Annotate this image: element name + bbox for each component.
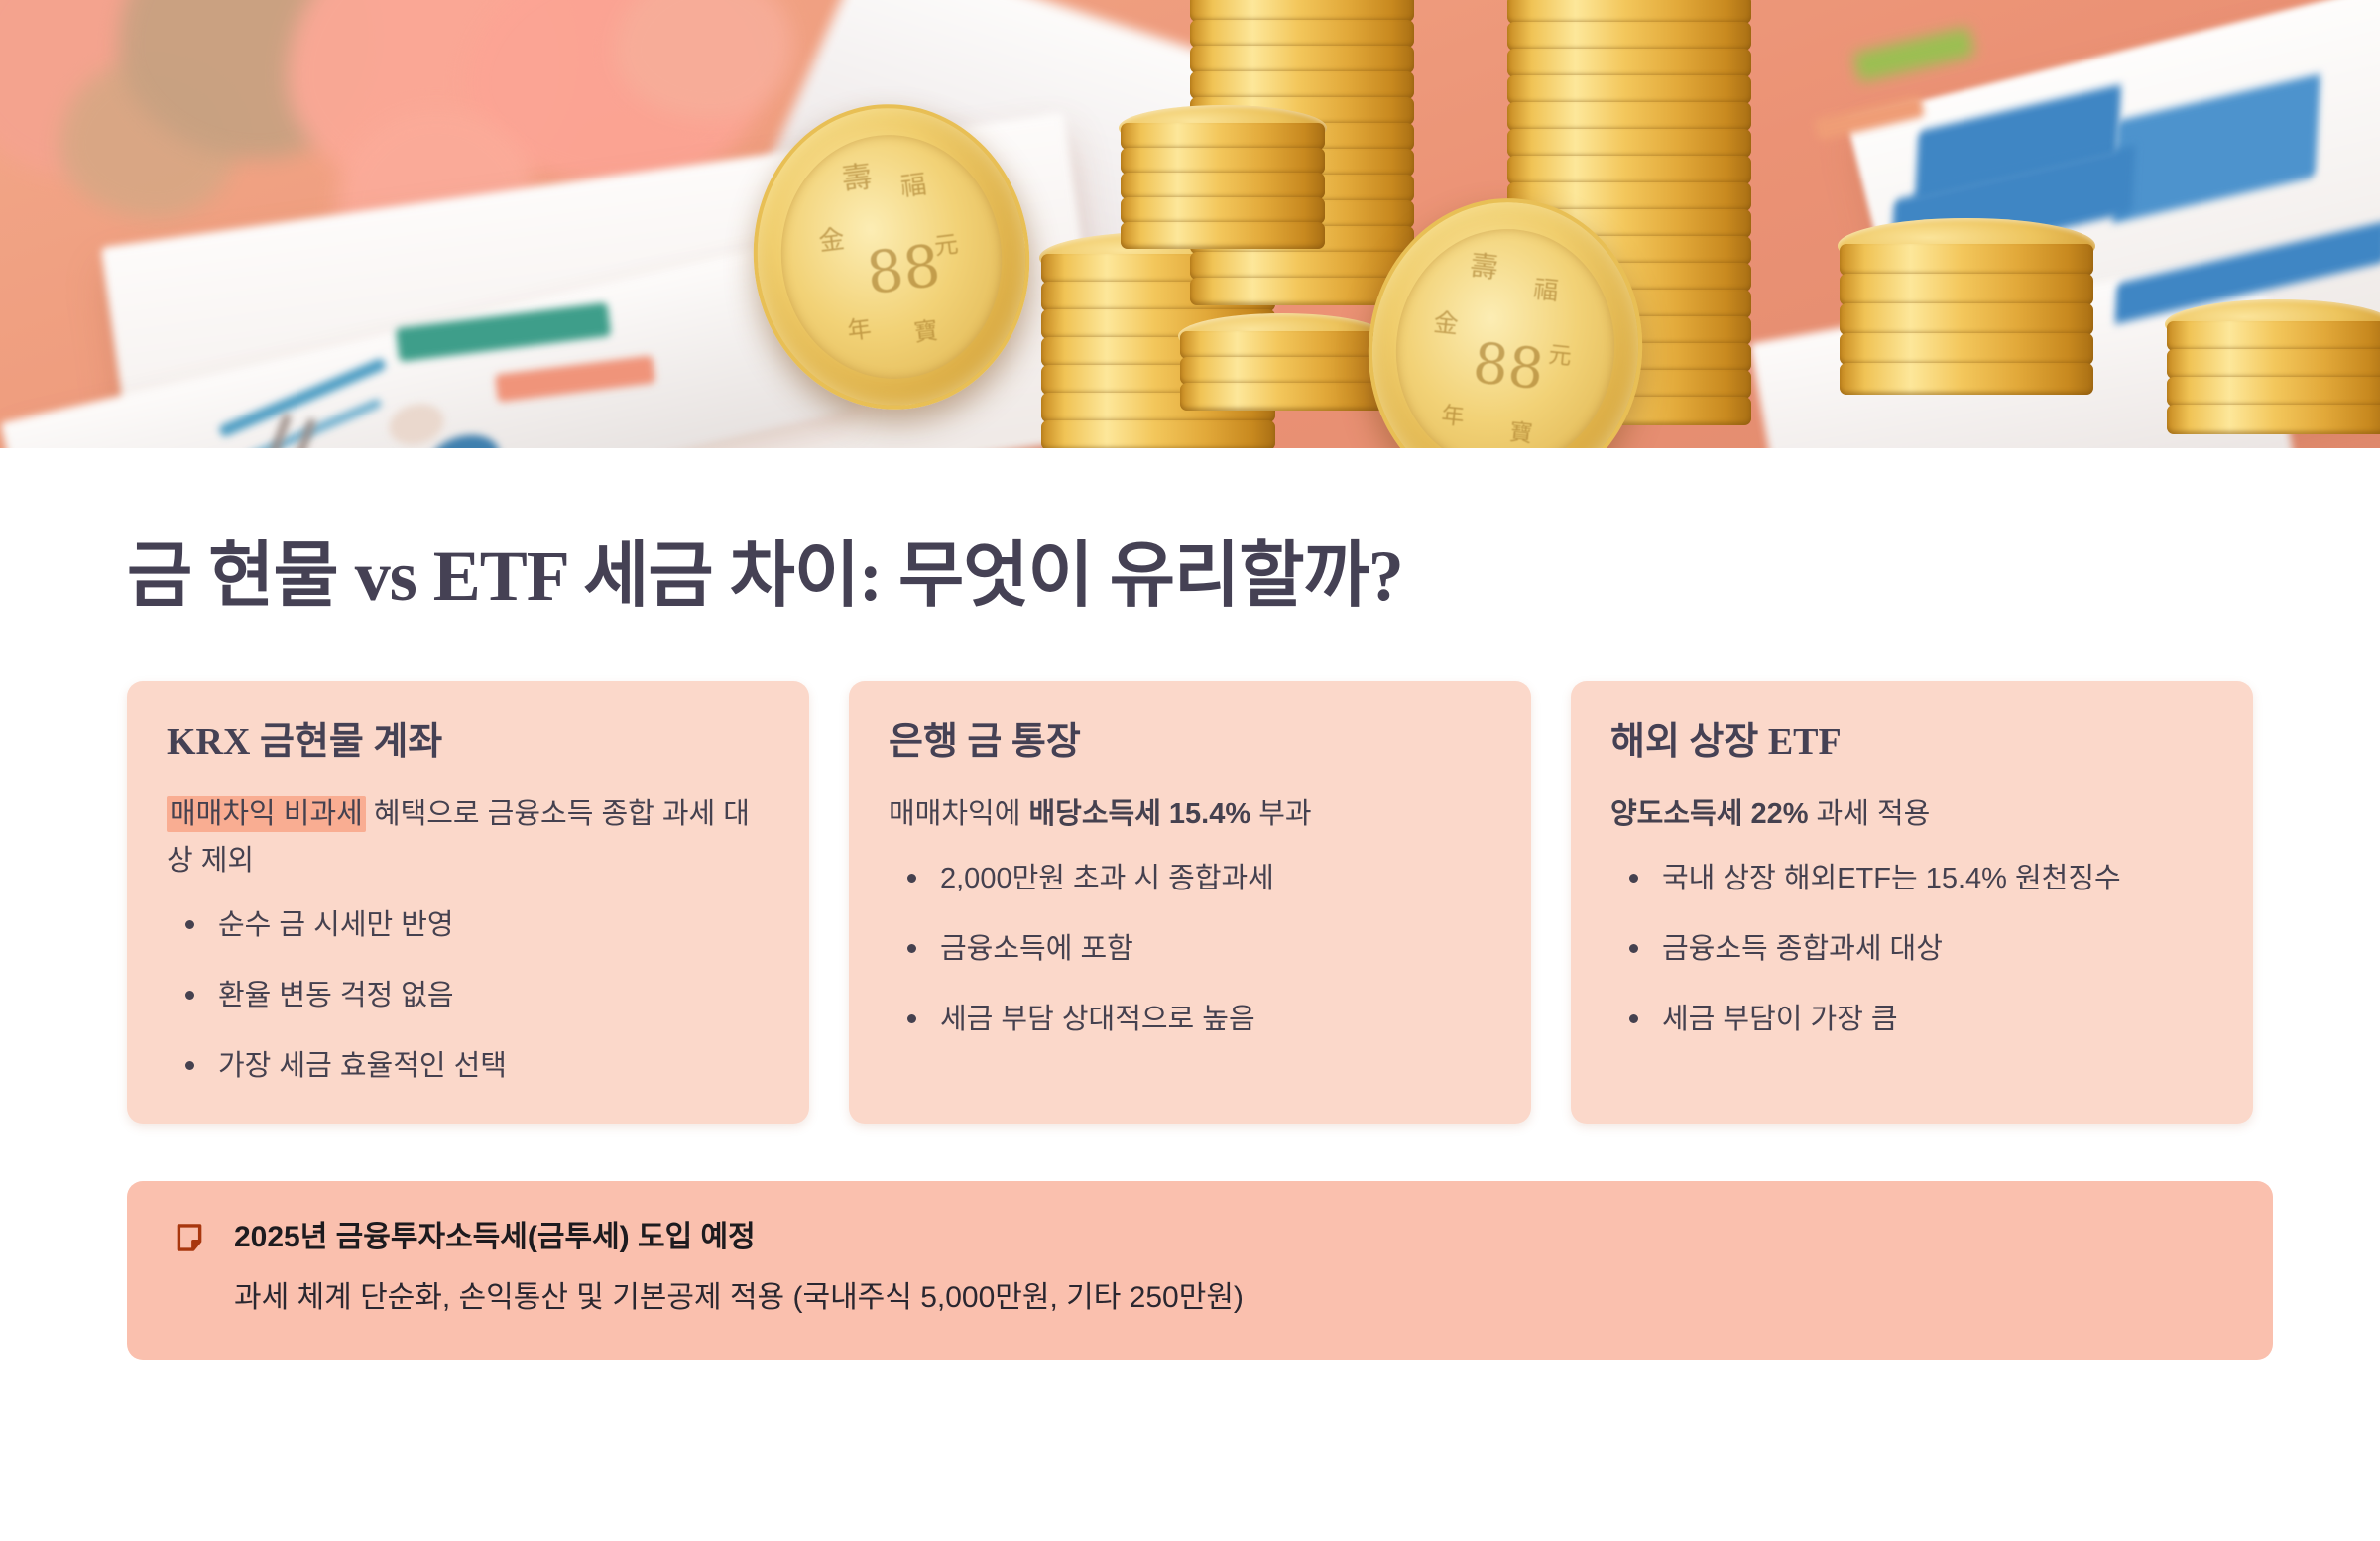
list-item: 국내 상장 해외ETF는 15.4% 원천징수 [1662, 856, 2213, 902]
list-item: 가장 세금 효율적인 선택 [218, 1043, 770, 1090]
comparison-cards: KRX 금현물 계좌 매매차익 비과세 혜택으로 금융소득 종합 과세 대상 제… [127, 681, 2253, 1124]
card-lead: 양도소득세 22% 과세 적용 [1610, 791, 2213, 838]
hero-banner: 壽 福 金 88 元 年 寶 壽 福 金 88 元 年 寶 [0, 0, 2380, 448]
list-item: 순수 금 시세만 반영 [218, 902, 770, 949]
card-title: KRX 금현물 계좌 [167, 719, 770, 767]
callout-title: 2025년 금융투자소득세(금투세) 도입 예정 [234, 1215, 2227, 1259]
list-item: 세금 부담이 가장 큼 [1662, 997, 2213, 1043]
page-title: 금 현물 vs ETF 세금 차이: 무엇이 유리할까? [127, 535, 2253, 618]
card-lead-pre: 매매차익에 [889, 798, 1028, 830]
card-lead-bold: 배당소득세 15.4% [1028, 798, 1250, 830]
callout-box: 2025년 금융투자소득세(금투세) 도입 예정 과세 체계 단순화, 손익통산… [127, 1181, 2273, 1360]
card-lead-post: 과세 적용 [1809, 798, 1931, 830]
card-krx-gold-account: KRX 금현물 계좌 매매차익 비과세 혜택으로 금융소득 종합 과세 대상 제… [127, 681, 809, 1124]
note-icon [173, 1221, 206, 1259]
card-lead: 매매차익 비과세 혜택으로 금융소득 종합 과세 대상 제외 [167, 791, 770, 885]
card-lead-bold: 양도소득세 22% [1610, 798, 1809, 830]
list-item: 금융소득 종합과세 대상 [1662, 926, 2213, 973]
callout-body: 2025년 금융투자소득세(금투세) 도입 예정 과세 체계 단순화, 손익통산… [234, 1215, 2227, 1322]
list-item: 세금 부담 상대적으로 높음 [940, 997, 1491, 1043]
card-bullet-list: 국내 상장 해외ETF는 15.4% 원천징수 금융소득 종합과세 대상 세금 … [1610, 856, 2213, 1043]
card-bullet-list: 순수 금 시세만 반영 환율 변동 걱정 없음 가장 세금 효율적인 선택 [167, 902, 770, 1090]
callout-row: 2025년 금융투자소득세(금투세) 도입 예정 과세 체계 단순화, 손익통산… [173, 1215, 2227, 1322]
list-item: 환율 변동 걱정 없음 [218, 973, 770, 1019]
card-bank-gold-passbook: 은행 금 통장 매매차익에 배당소득세 15.4% 부과 2,000만원 초과 … [849, 681, 1531, 1124]
highlight-text: 매매차익 비과세 [167, 796, 366, 832]
list-item: 2,000만원 초과 시 종합과세 [940, 856, 1491, 902]
card-title: 해외 상장 ETF [1610, 719, 2213, 767]
card-title: 은행 금 통장 [889, 719, 1491, 767]
card-lead: 매매차익에 배당소득세 15.4% 부과 [889, 791, 1491, 838]
page-content: 금 현물 vs ETF 세금 차이: 무엇이 유리할까? KRX 금현물 계좌 … [0, 535, 2380, 1360]
list-item: 금융소득에 포함 [940, 926, 1491, 973]
callout-subtitle: 과세 체계 단순화, 손익통산 및 기본공제 적용 (국내주식 5,000만원,… [234, 1275, 2227, 1322]
card-overseas-listed-etf: 해외 상장 ETF 양도소득세 22% 과세 적용 국내 상장 해외ETF는 1… [1571, 681, 2253, 1124]
chart-mark [1852, 27, 1975, 82]
hero-photo: 壽 福 金 88 元 年 寶 壽 福 金 88 元 年 寶 [0, 0, 2380, 448]
card-lead-post: 부과 [1250, 798, 1311, 830]
card-bullet-list: 2,000만원 초과 시 종합과세 금융소득에 포함 세금 부담 상대적으로 높… [889, 856, 1491, 1043]
